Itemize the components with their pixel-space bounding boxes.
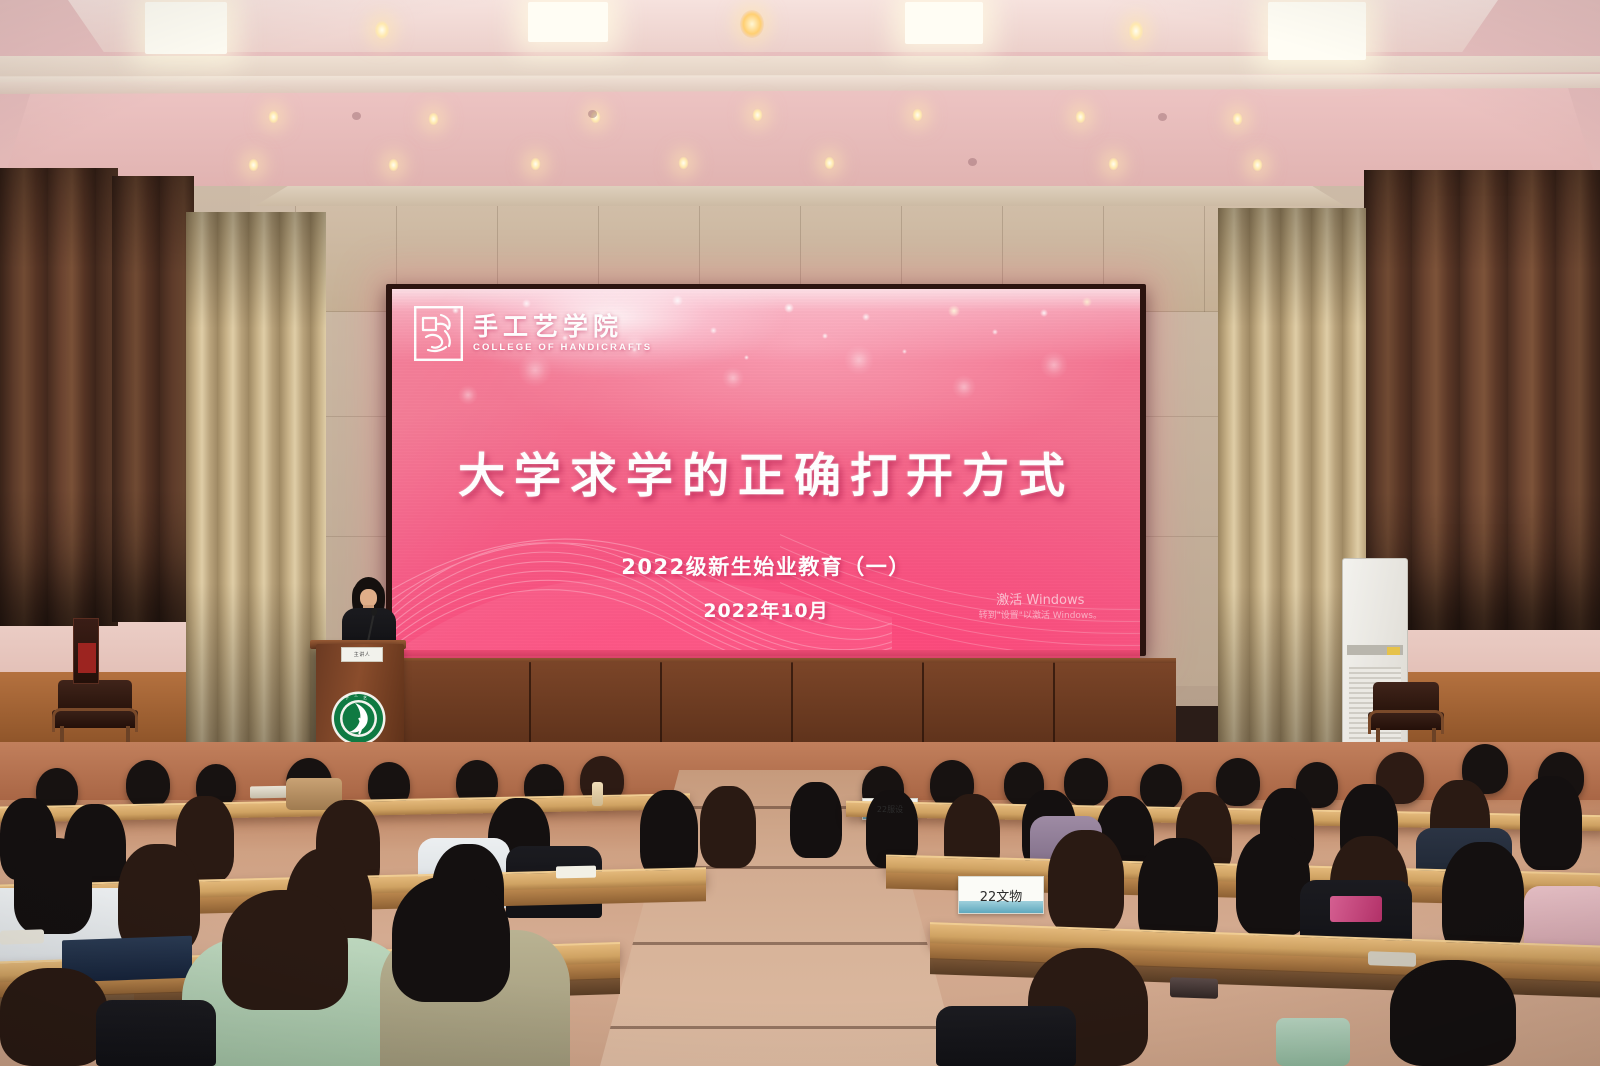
audience-head bbox=[222, 890, 348, 1010]
ceiling-downlight bbox=[752, 108, 763, 122]
wall-cornice bbox=[255, 186, 1345, 206]
ceiling bbox=[0, 0, 1600, 192]
audience-head bbox=[1140, 764, 1182, 810]
stage-front-panels bbox=[398, 662, 1176, 748]
svg-text:手: 手 bbox=[345, 694, 349, 700]
ceiling-panel-light bbox=[905, 2, 983, 44]
audience-head bbox=[1048, 830, 1124, 934]
fire-extinguisher-cabinet bbox=[73, 618, 99, 684]
class-placard-text: 22文物 bbox=[980, 886, 1023, 905]
audience-head bbox=[1390, 960, 1516, 1066]
audience-head bbox=[1520, 776, 1582, 870]
svg-text:艺: 艺 bbox=[363, 695, 367, 700]
ceiling-lower-plane bbox=[0, 88, 1600, 192]
ceiling-downlight bbox=[374, 20, 390, 40]
audience-head bbox=[1064, 758, 1108, 806]
desk-item-logo-print bbox=[1330, 896, 1382, 922]
ceiling-downlight bbox=[248, 158, 259, 172]
audience-head bbox=[0, 968, 108, 1066]
audience-head bbox=[640, 790, 698, 878]
desk-item-phone bbox=[0, 929, 44, 945]
ceiling-downlight bbox=[912, 108, 923, 122]
class-placard: 22文物 bbox=[958, 876, 1044, 914]
audience-body bbox=[936, 1006, 1076, 1066]
screen-pixel-grid bbox=[392, 289, 1140, 650]
desk-item-cup bbox=[1276, 1018, 1350, 1066]
audience-head bbox=[1236, 832, 1310, 936]
stage-curtain-dark-left bbox=[0, 168, 118, 626]
desk-item-bottle bbox=[592, 782, 603, 806]
audience-head bbox=[790, 782, 842, 858]
auditorium-scene: 手工艺学院 COLLEGE OF HANDICRAFTS 大学求学的正确打开方式… bbox=[0, 0, 1600, 1066]
ceiling-panel-light bbox=[145, 2, 227, 54]
side-chair-right bbox=[1368, 660, 1444, 746]
ceiling-vent-icon bbox=[352, 112, 361, 120]
ceiling-downlight bbox=[1075, 110, 1086, 124]
ceiling-downlight bbox=[1128, 20, 1144, 42]
ceiling-downlight bbox=[1252, 158, 1263, 172]
ceiling-vent-icon bbox=[1158, 113, 1167, 121]
audience-head bbox=[700, 786, 756, 868]
stage-curtain-dark-left-inner bbox=[112, 176, 194, 622]
desk-item-phone bbox=[1368, 951, 1416, 967]
ceiling-downlight bbox=[1232, 112, 1243, 126]
audience-head bbox=[126, 760, 170, 808]
ceiling-downlight bbox=[1108, 157, 1119, 171]
led-screen[interactable]: 手工艺学院 COLLEGE OF HANDICRAFTS 大学求学的正确打开方式… bbox=[392, 289, 1140, 650]
audience-head bbox=[1216, 758, 1260, 806]
desk-item-paper bbox=[556, 866, 596, 879]
stage-curtain-tan-left bbox=[186, 212, 326, 742]
ceiling-panel-light bbox=[528, 2, 608, 42]
audience-body bbox=[96, 1000, 216, 1066]
ceiling-downlight bbox=[268, 110, 279, 124]
university-crest-icon: 手工艺 bbox=[330, 690, 387, 747]
ceiling-vent-icon bbox=[588, 110, 597, 118]
ceiling-downlight bbox=[678, 156, 689, 170]
svg-text:工: 工 bbox=[354, 692, 358, 697]
ceiling-downlight bbox=[530, 157, 541, 171]
ceiling-vent-icon bbox=[968, 158, 977, 166]
ceiling-downlight bbox=[428, 112, 439, 126]
podium-nameplate: 主讲人 bbox=[341, 647, 383, 662]
ceiling-downlight bbox=[824, 156, 835, 170]
audience-head bbox=[14, 838, 92, 934]
ceiling-downlight bbox=[740, 10, 764, 38]
class-placard-text: 22服设 bbox=[877, 804, 903, 815]
audience-head bbox=[392, 876, 510, 1002]
desk-item-case bbox=[1170, 977, 1218, 999]
ceiling-downlight bbox=[388, 158, 399, 172]
ceiling-panel-light bbox=[1268, 2, 1366, 60]
